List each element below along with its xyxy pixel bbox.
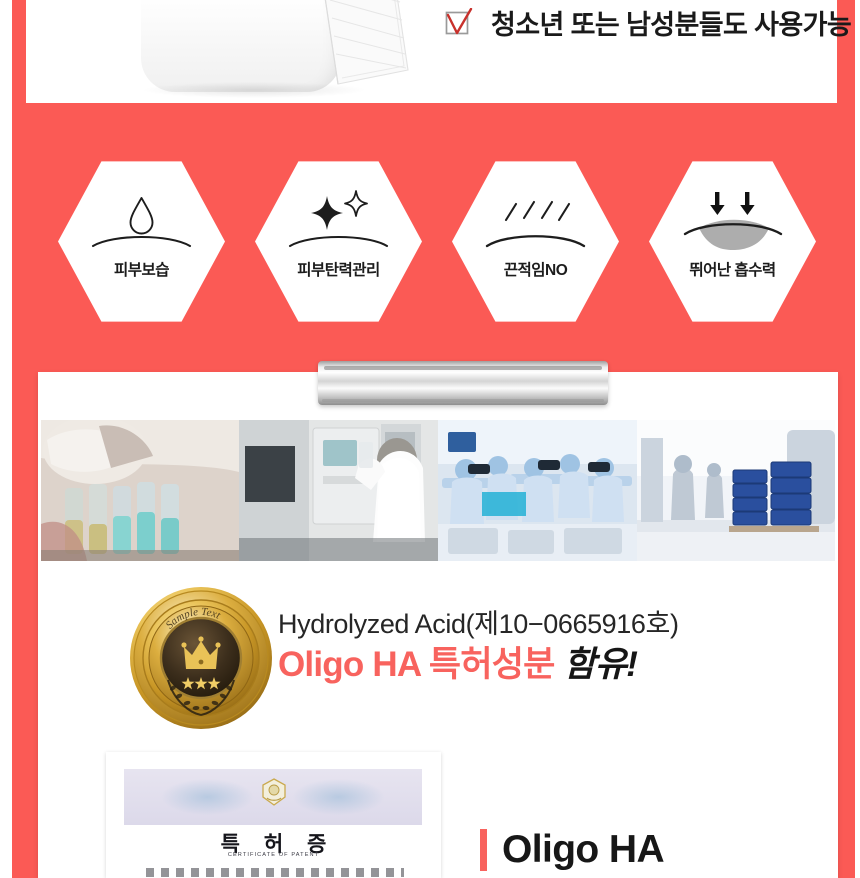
patent-headline-line2: Oligo HA 특허성분 함유! [278,643,818,687]
clipboard-panel: Sample Text [38,372,838,878]
leaf-decoration-icon [304,0,416,88]
patent-headline-dark-part: 함유! [563,645,637,684]
certificate-subtitle: CERTIFICATE OF PATENT [106,852,441,858]
absorption-arrows-icon [649,188,816,250]
product-image: Preventing And Firming Cream It contains… [126,0,426,104]
red-accent-bar [480,829,487,871]
benefit-label: 피부보습 [58,258,225,280]
benefit-label: 피부탄력관리 [255,258,422,280]
researcher-inspecting-sample-photo [239,420,438,561]
claim-row: 청소년 또는 남성분들도 사용가능 [443,3,851,42]
factory-storage-bins-photo [637,420,835,561]
cleanroom-workers-photo [438,420,637,561]
patent-certificate-image: 특 허 증 CERTIFICATE OF PATENT [106,752,441,878]
product-detail-page: Preventing And Firming Cream It contains… [0,0,860,878]
product-shadow [144,82,364,98]
patent-headline-line1: Hydrolyzed Acid(제10−0665916호) [278,607,818,641]
benefit-hex-skin-elasticity: 피부탄력관리 [255,158,422,325]
benefit-hex-no-stickiness: 끈적임NO [452,158,619,325]
patent-headline-red-part: Oligo HA 특허성분 [278,645,555,684]
section-heading-text: Oligo HA [502,828,664,872]
water-drop-on-skin-icon [58,188,225,250]
sparkle-elasticity-icon [255,188,422,250]
checked-checkbox-icon [443,8,473,38]
no-stickiness-icon [452,188,619,250]
benefit-hex-absorption: 뛰어난 흡수력 [649,158,816,325]
patent-headline: Hydrolyzed Acid(제10−0665916호) Oligo HA 특… [278,607,818,687]
benefit-hex-skin-moisture: 피부보습 [58,158,225,325]
lab-photo-strip [41,420,835,561]
benefit-label: 뛰어난 흡수력 [649,258,816,280]
korea-national-emblem-icon [261,778,287,806]
clipboard-metal-clip [318,361,608,405]
gold-award-seal-icon: Sample Text [128,585,274,731]
lab-test-tubes-photo [41,420,239,561]
top-white-panel: Preventing And Firming Cream It contains… [26,0,837,103]
benefit-label: 끈적임NO [452,258,619,280]
claim-text: 청소년 또는 남성분들도 사용가능 [491,3,851,42]
benefits-row: 피부보습 피부탄력관리 끈적임NO [12,158,855,328]
certificate-body-text-line [146,868,404,877]
oligo-ha-section-heading: Oligo HA [480,828,664,872]
